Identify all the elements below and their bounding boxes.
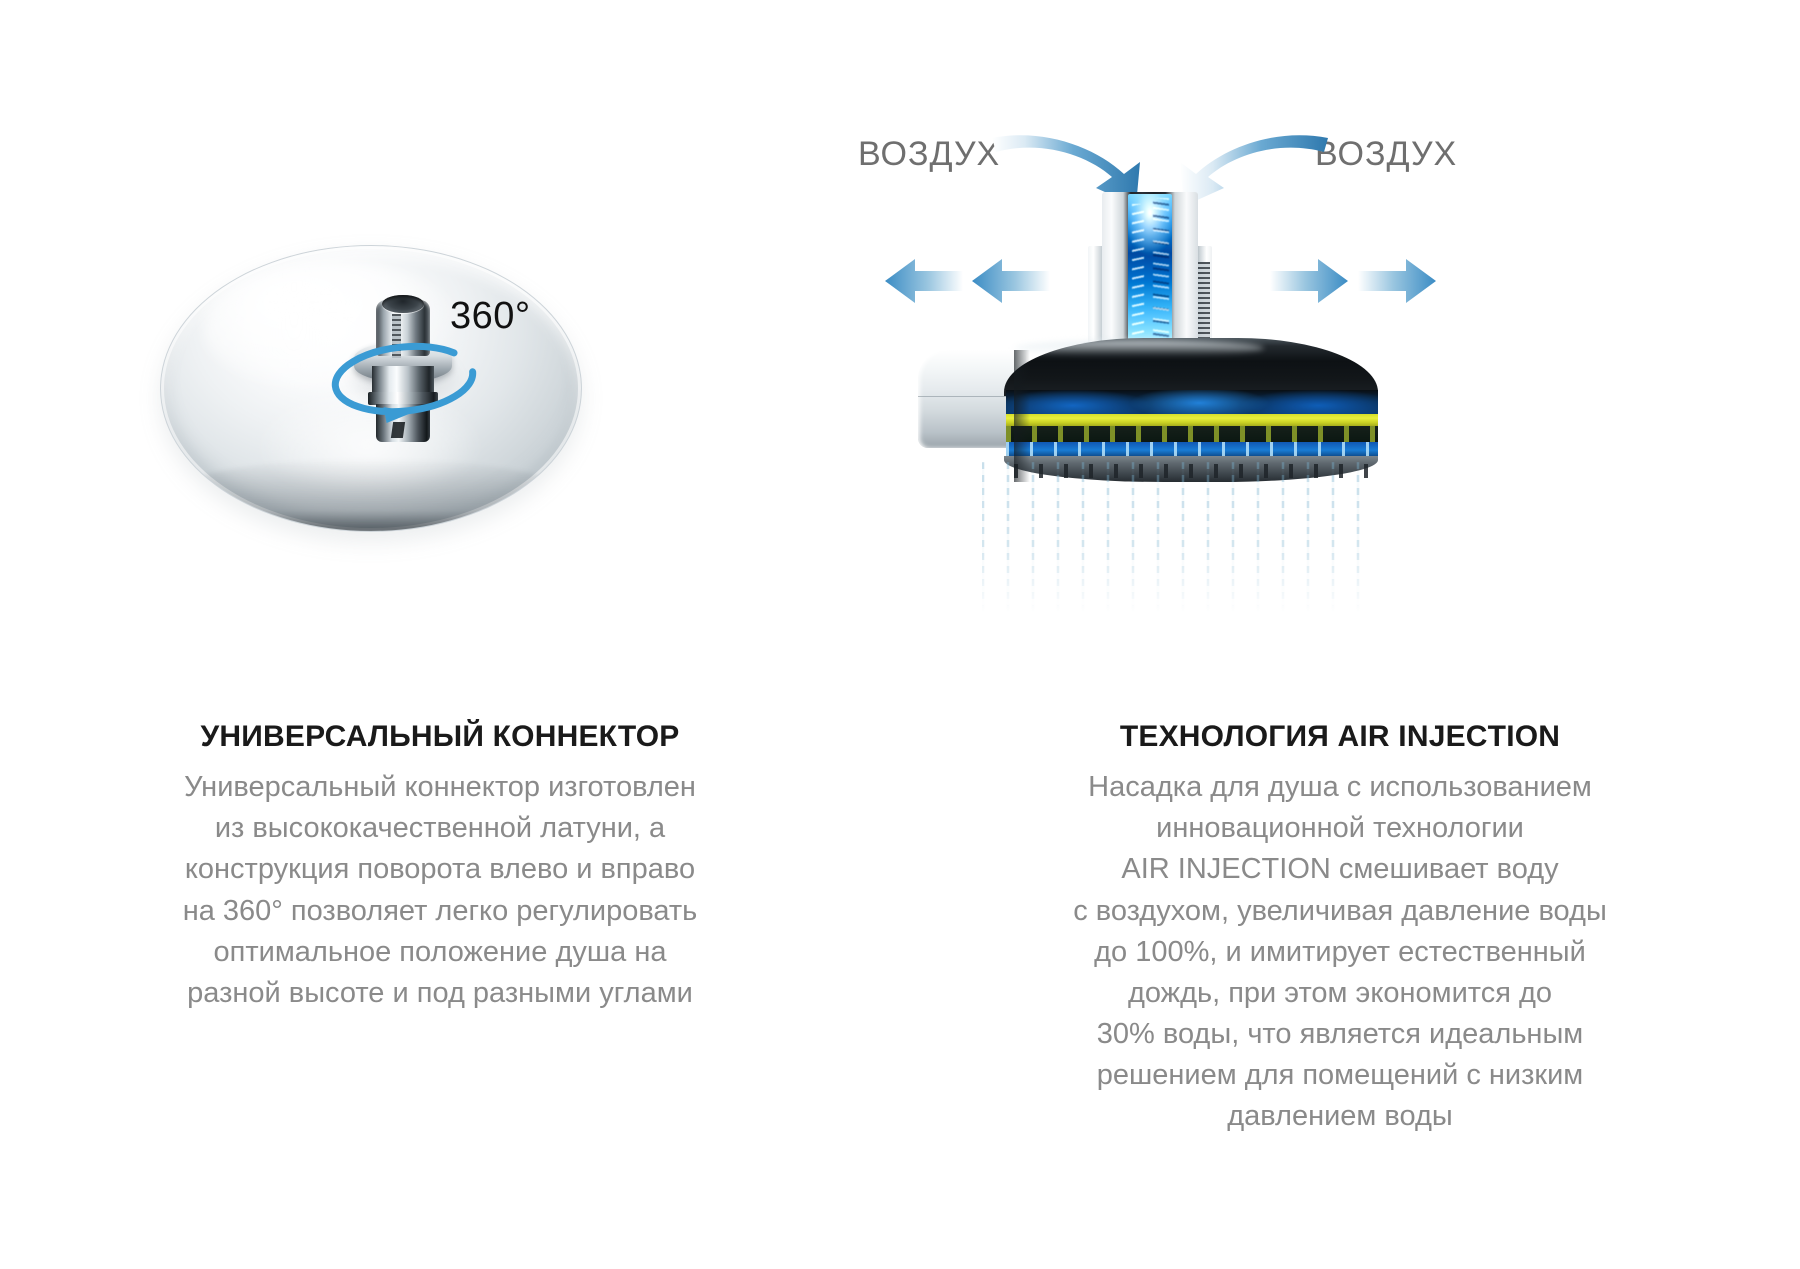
figure-air-injection: ВОЗДУХ ВОЗДУХ [880, 0, 1800, 600]
description-line: дождь, при этом экономится до [1040, 973, 1640, 1014]
water-spray-icon [982, 462, 1382, 612]
shower-head-cutaway-icon [918, 338, 1378, 458]
description-line: AIR INJECTION смешивает воду [1040, 849, 1640, 890]
head-distribution-plate [1006, 414, 1378, 426]
head-dome-highlight [1014, 340, 1264, 356]
rotation-degree-badge: 360° [450, 295, 531, 338]
stem-water-flow [1128, 194, 1172, 350]
connector-notch [391, 422, 405, 438]
infographic-page: 360° УНИВЕРСАЛЬНЫЙ КОННЕКТОР Универсальн… [0, 0, 1800, 1269]
description-line: инновационной технологии [1040, 808, 1640, 849]
air-outflow-arrow-left-icon [972, 258, 1050, 309]
description-line: Насадка для душа с использованием [1040, 767, 1640, 808]
description-line: конструкция поворота влево и вправо [120, 849, 760, 890]
connector-bore [382, 295, 424, 313]
description-line: давлением воды [1040, 1096, 1640, 1137]
rotation-arrow-icon [328, 340, 480, 418]
air-outflow-arrow-right-icon [1270, 258, 1348, 309]
description-line: до 100%, и имитирует естественный [1040, 932, 1640, 973]
description-line: 30% воды, что является идеальным [1040, 1014, 1640, 1055]
stem-thread-right [1198, 262, 1210, 342]
caption-universal-connector: УНИВЕРСАЛЬНЫЙ КОННЕКТОР Универсальный ко… [0, 720, 880, 1014]
description-line: на 360° позволяет легко регулировать [120, 891, 760, 932]
panel-universal-connector: 360° УНИВЕРСАЛЬНЫЙ КОННЕКТОР Универсальн… [0, 0, 880, 1269]
description-line: с воздухом, увеличивая давление воды [1040, 891, 1640, 932]
air-label-right: ВОЗДУХ [1315, 135, 1457, 174]
description-right: Насадка для душа с использованием иннова… [1040, 767, 1640, 1138]
description-line: оптимальное положение душа на [120, 932, 760, 973]
air-outflow-arrow-left-icon [885, 258, 963, 309]
page-title-left: УНИВЕРСАЛЬНЫЙ КОННЕКТОР [0, 720, 880, 753]
caption-air-injection: ТЕХНОЛОГИЯ AIR INJECTION Насадка для душ… [880, 720, 1800, 1138]
air-outflow-arrow-right-icon [1358, 258, 1436, 309]
description-left: Универсальный коннектор изготовлен из вы… [120, 767, 760, 1014]
description-line: решением для помещений с низким [1040, 1055, 1640, 1096]
description-line: из высококачественной латуни, а [120, 808, 760, 849]
page-title-right: ТЕХНОЛОГИЯ AIR INJECTION [880, 720, 1800, 753]
venturi-mixing-stem-icon [1102, 192, 1198, 352]
panel-air-injection: ВОЗДУХ ВОЗДУХ [880, 0, 1800, 1269]
description-line: Универсальный коннектор изготовлен [120, 767, 760, 808]
air-label-left: ВОЗДУХ [858, 135, 1000, 174]
head-mixing-chamber [1006, 390, 1378, 416]
description-line: разной высоте и под разными углами [120, 973, 760, 1014]
figure-universal-connector: 360° [0, 0, 880, 600]
